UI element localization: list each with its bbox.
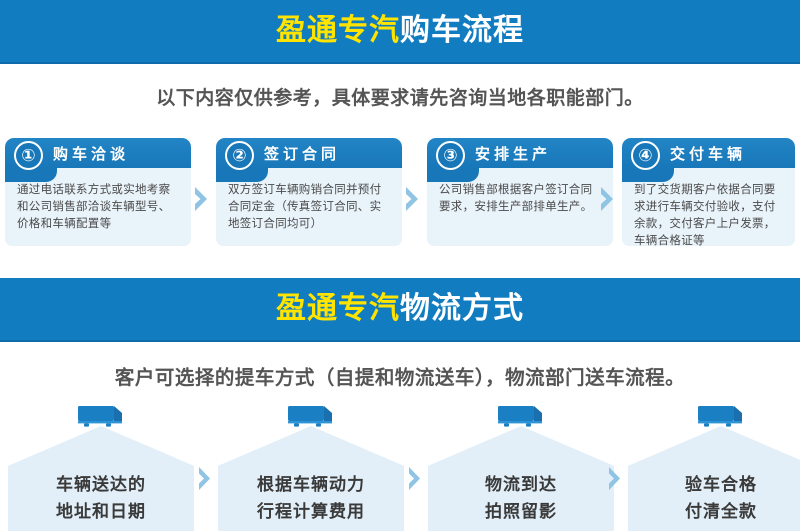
logistics-card-4-text: 验车合格 付清全款 <box>628 472 800 526</box>
purchase-steps-row: 购车洽谈 ① 通过电话联系方式或实地考察和公司销售部洽谈车辆型号、价格和车辆配置… <box>0 138 800 248</box>
logistics-banner: 盈通专汽物流方式 <box>0 278 800 342</box>
infographic-page: 盈通专汽购车流程 以下内容仅供参考，具体要求请先咨询当地各职能部门。 购车洽谈 … <box>0 0 800 531</box>
banner2-brand: 盈通专汽 <box>276 291 400 326</box>
logistics-card-2[interactable]: 根据车辆动力 行程计算费用 <box>218 426 404 531</box>
logistics-card-4[interactable]: 验车合格 付清全款 <box>628 426 800 531</box>
step-1-title: 购车洽谈 <box>53 143 129 164</box>
truck-icon <box>282 404 340 430</box>
purchase-flow-subtitle: 以下内容仅供参考，具体要求请先咨询当地各职能部门。 <box>0 83 800 110</box>
step-arrow-2-3 <box>403 186 421 212</box>
step-card-3[interactable]: 安排生产 ③ 公司销售部根据客户签订合同要求，安排生产部排单生产。 <box>427 138 613 246</box>
logistics-subtitle: 客户可选择的提车方式（自提和物流送车），物流部门送车流程。 <box>0 361 800 390</box>
logistics-card-3-line2: 拍照留影 <box>428 499 614 526</box>
logistics-arrow-1-2 <box>196 466 213 491</box>
logistics-card-1-line2: 地址和日期 <box>8 499 194 526</box>
step-3-number-badge: ③ <box>436 141 465 170</box>
truck-icon <box>72 404 130 430</box>
step-4-notch <box>622 168 674 182</box>
truck-icon <box>492 404 550 430</box>
banner1-rest: 购车流程 <box>400 13 524 48</box>
logistics-card-1-text: 车辆送达的 地址和日期 <box>8 472 194 526</box>
step-card-1[interactable]: 购车洽谈 ① 通过电话联系方式或实地考察和公司销售部洽谈车辆型号、价格和车辆配置… <box>5 138 191 246</box>
step-3-text: 公司销售部根据客户签订合同要求，安排生产部排单生产。 <box>439 181 602 215</box>
logistics-card-1[interactable]: 车辆送达的 地址和日期 <box>8 426 194 531</box>
logistics-card-4-line2: 付清全款 <box>628 499 800 526</box>
logistics-card-4-line1: 验车合格 <box>628 472 800 499</box>
logistics-card-2-line2: 行程计算费用 <box>218 499 404 526</box>
step-1-notch <box>5 168 57 182</box>
logistics-card-3-line1: 物流到达 <box>428 472 614 499</box>
logistics-card-2-line1: 根据车辆动力 <box>218 472 404 499</box>
logistics-card-3-text: 物流到达 拍照留影 <box>428 472 614 526</box>
step-card-4[interactable]: 交付车辆 ④ 到了交货期客户依据合同要求进行车辆交付验收，支付余款，交付客户上户… <box>622 138 795 246</box>
step-4-number-badge: ④ <box>631 141 660 170</box>
step-1-text: 通过电话联系方式或实地考察和公司销售部洽谈车辆型号、价格和车辆配置等 <box>17 181 180 232</box>
logistics-arrow-2-3 <box>406 466 423 491</box>
step-2-number-badge: ② <box>225 141 254 170</box>
logistics-steps-row: 车辆送达的 地址和日期 根据车辆动力 行程计算费用 <box>0 400 800 531</box>
step-2-notch <box>216 168 268 182</box>
step-1-number-badge: ① <box>14 141 43 170</box>
step-2-text: 双方签订车辆购销合同并预付合同定金（传真签订合同、实地签订合同均可） <box>228 181 391 232</box>
step-arrow-1-2 <box>192 186 210 212</box>
step-4-title: 交付车辆 <box>670 143 746 164</box>
logistics-card-1-line1: 车辆送达的 <box>8 472 194 499</box>
banner1-title: 盈通专汽购车流程 <box>276 16 524 46</box>
step-4-text: 到了交货期客户依据合同要求进行车辆交付验收，支付余款，交付客户上户发票，车辆合格… <box>634 181 784 249</box>
step-card-2[interactable]: 签订合同 ② 双方签订车辆购销合同并预付合同定金（传真签订合同、实地签订合同均可… <box>216 138 402 246</box>
logistics-card-3[interactable]: 物流到达 拍照留影 <box>428 426 614 531</box>
step-3-title: 安排生产 <box>475 143 551 164</box>
logistics-card-2-text: 根据车辆动力 行程计算费用 <box>218 472 404 526</box>
banner1-brand: 盈通专汽 <box>276 13 400 48</box>
truck-icon <box>692 404 750 430</box>
purchase-flow-banner: 盈通专汽购车流程 <box>0 0 800 64</box>
step-2-title: 签订合同 <box>264 143 340 164</box>
banner2-rest: 物流方式 <box>400 291 524 326</box>
step-3-notch <box>427 168 479 182</box>
step-arrow-3-4 <box>598 186 616 212</box>
logistics-arrow-3-4 <box>606 466 623 491</box>
banner2-title: 盈通专汽物流方式 <box>276 294 524 324</box>
